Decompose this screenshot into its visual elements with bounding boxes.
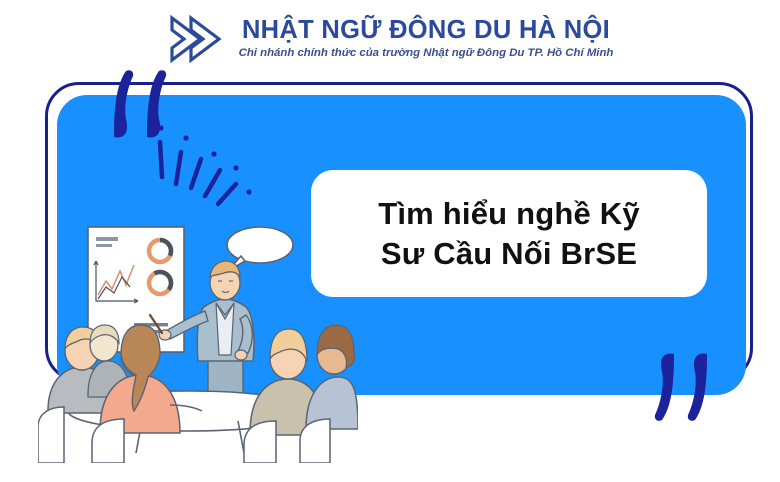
- site-title: NHẬT NGỮ ĐÔNG DU HÀ NỘI: [242, 17, 610, 44]
- logo-text-block: NHẬT NGỮ ĐÔNG DU HÀ NỘI Chi nhánh chính …: [239, 17, 614, 60]
- business-presentation-illustration: [38, 215, 358, 463]
- speech-bubble: [227, 227, 293, 271]
- page-root: NHẬT NGỮ ĐÔNG DU HÀ NỘI Chi nhánh chính …: [0, 0, 780, 482]
- site-header: NHẬT NGỮ ĐÔNG DU HÀ NỘI Chi nhánh chính …: [0, 8, 780, 70]
- banner-title-card: Tìm hiểu nghề Kỹ Sư Cầu Nối BrSE: [311, 170, 707, 297]
- banner-title-line-1: Tìm hiểu nghề Kỹ: [378, 194, 640, 234]
- double-chevron-arrow-icon: [167, 14, 231, 64]
- site-subtitle: Chi nhánh chính thức của trường Nhật ngữ…: [239, 47, 614, 61]
- banner-title-line-2: Sư Cầu Nối BrSE: [381, 234, 637, 274]
